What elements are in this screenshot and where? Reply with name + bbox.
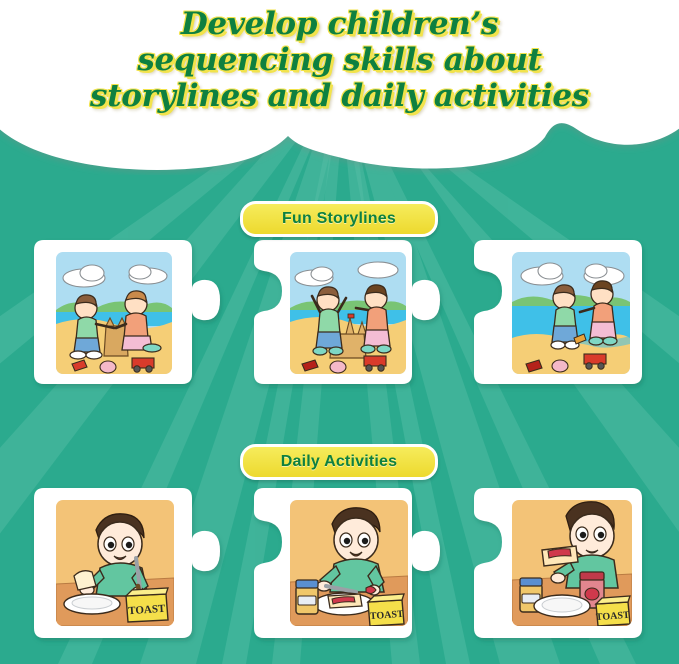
puzzle-piece-daily-3[interactable]: TOAST bbox=[470, 482, 670, 646]
section-badge-daily-activities: Daily Activities bbox=[240, 444, 438, 480]
piece-artwork-beach-1 bbox=[56, 252, 172, 374]
poster-canvas: Develop children’s sequencing skills abo… bbox=[0, 0, 679, 664]
puzzle-piece-daily-2[interactable]: TOAST bbox=[250, 482, 460, 646]
page-title: Develop children’s sequencing skills abo… bbox=[0, 6, 679, 114]
piece-artwork-beach-3 bbox=[512, 252, 630, 374]
puzzle-piece-storyline-2[interactable] bbox=[250, 234, 460, 392]
section-badge-fun-storylines: Fun Storylines bbox=[240, 201, 438, 237]
puzzle-piece-storyline-1[interactable] bbox=[30, 234, 240, 392]
section-badge-label: Daily Activities bbox=[281, 453, 397, 471]
piece-artwork-kitchen-3: TOAST bbox=[512, 500, 632, 626]
section-badge-label: Fun Storylines bbox=[282, 210, 396, 228]
puzzle-piece-storyline-3[interactable] bbox=[470, 234, 670, 392]
piece-artwork-kitchen-2: TOAST bbox=[290, 500, 408, 626]
piece-artwork-kitchen-1: TOAST bbox=[56, 500, 174, 626]
puzzle-piece-daily-1[interactable]: TOAST bbox=[30, 482, 240, 646]
piece-artwork-beach-2 bbox=[290, 252, 406, 374]
